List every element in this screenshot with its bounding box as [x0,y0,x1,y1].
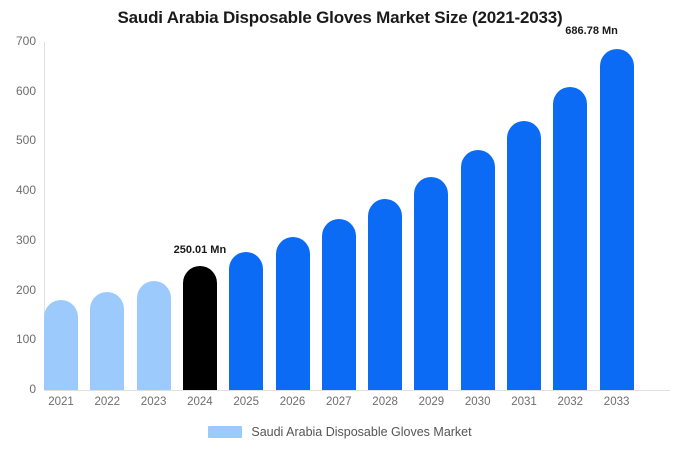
y-axis-tick-label: 600 [0,84,36,98]
x-axis-tick-label: 2031 [499,396,549,408]
x-axis-tick-label: 2030 [453,396,503,408]
bar-2030[interactable] [461,150,495,390]
bar-2027[interactable] [322,219,356,391]
x-axis-tick-label: 2025 [221,396,271,408]
legend-item-label: Saudi Arabia Disposable Gloves Market [251,425,471,439]
x-axis-line [44,390,670,391]
bar-2029[interactable] [414,177,448,390]
bar-2032[interactable] [553,87,587,390]
y-axis-tick-label: 200 [0,283,36,297]
y-axis-tick-label: 0 [0,382,36,396]
bar-2028[interactable] [368,199,402,390]
bar-2023[interactable] [137,281,171,390]
y-axis-tick-label: 400 [0,183,36,197]
chart-legend: Saudi Arabia Disposable Gloves Market [0,425,680,439]
x-axis-tick-label: 2032 [545,396,595,408]
bar-2031[interactable] [507,121,541,390]
x-axis-tick-label: 2027 [314,396,364,408]
x-axis-tick-label: 2021 [36,396,86,408]
bar-2026[interactable] [276,237,310,390]
bar-2024[interactable] [183,266,217,390]
x-axis-tick-label: 2029 [406,396,456,408]
x-axis-tick-label: 2033 [592,396,642,408]
bar-2033[interactable] [600,49,634,390]
legend-swatch-icon [208,426,242,438]
bar-2025[interactable] [229,252,263,390]
bar-value-label-2024: 250.01 Mn [165,244,235,256]
bar-2022[interactable] [90,292,124,390]
x-axis-tick-label: 2026 [268,396,318,408]
x-axis-tick-label: 2023 [129,396,179,408]
bar-2021[interactable] [44,300,78,390]
x-axis-tick-label: 2024 [175,396,225,408]
x-axis-tick-label: 2028 [360,396,410,408]
bar-value-label-2033: 686.78 Mn [557,25,627,37]
bar-chart: Saudi Arabia Disposable Gloves Market Si… [0,0,680,450]
y-axis-tick-label: 700 [0,34,36,48]
y-axis-tick-label: 100 [0,332,36,346]
y-axis-tick-label: 500 [0,133,36,147]
x-axis-tick-label: 2022 [82,396,132,408]
y-axis-tick-label: 300 [0,233,36,247]
plot-area [44,42,670,390]
